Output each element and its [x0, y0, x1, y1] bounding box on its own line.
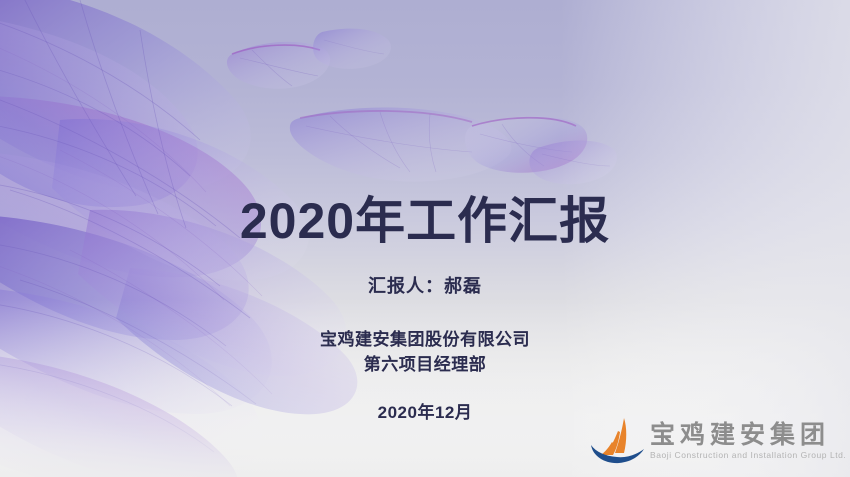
logo-english-name: Baoji Construction and Installation Grou… — [650, 450, 846, 460]
logo-wordmark: 宝鸡建安集团 Baoji Construction and Installati… — [650, 422, 846, 460]
presenter-line: 汇报人：郝磊 — [0, 272, 850, 298]
organization-line-1: 宝鸡建安集团股份有限公司 — [0, 328, 850, 353]
organization-line-2: 第六项目经理部 — [0, 353, 850, 378]
petal-floating-group — [227, 29, 617, 185]
presentation-title-slide: 2020年工作汇报 汇报人：郝磊 宝鸡建安集团股份有限公司 第六项目经理部 20… — [0, 0, 850, 477]
company-logo: 宝鸡建安集团 Baoji Construction and Installati… — [588, 412, 846, 470]
organization-block: 宝鸡建安集团股份有限公司 第六项目经理部 — [0, 328, 850, 377]
logo-chinese-name: 宝鸡建安集团 — [650, 422, 846, 448]
page-title: 2020年工作汇报 — [0, 193, 850, 249]
sailboat-logo-icon — [588, 415, 646, 467]
